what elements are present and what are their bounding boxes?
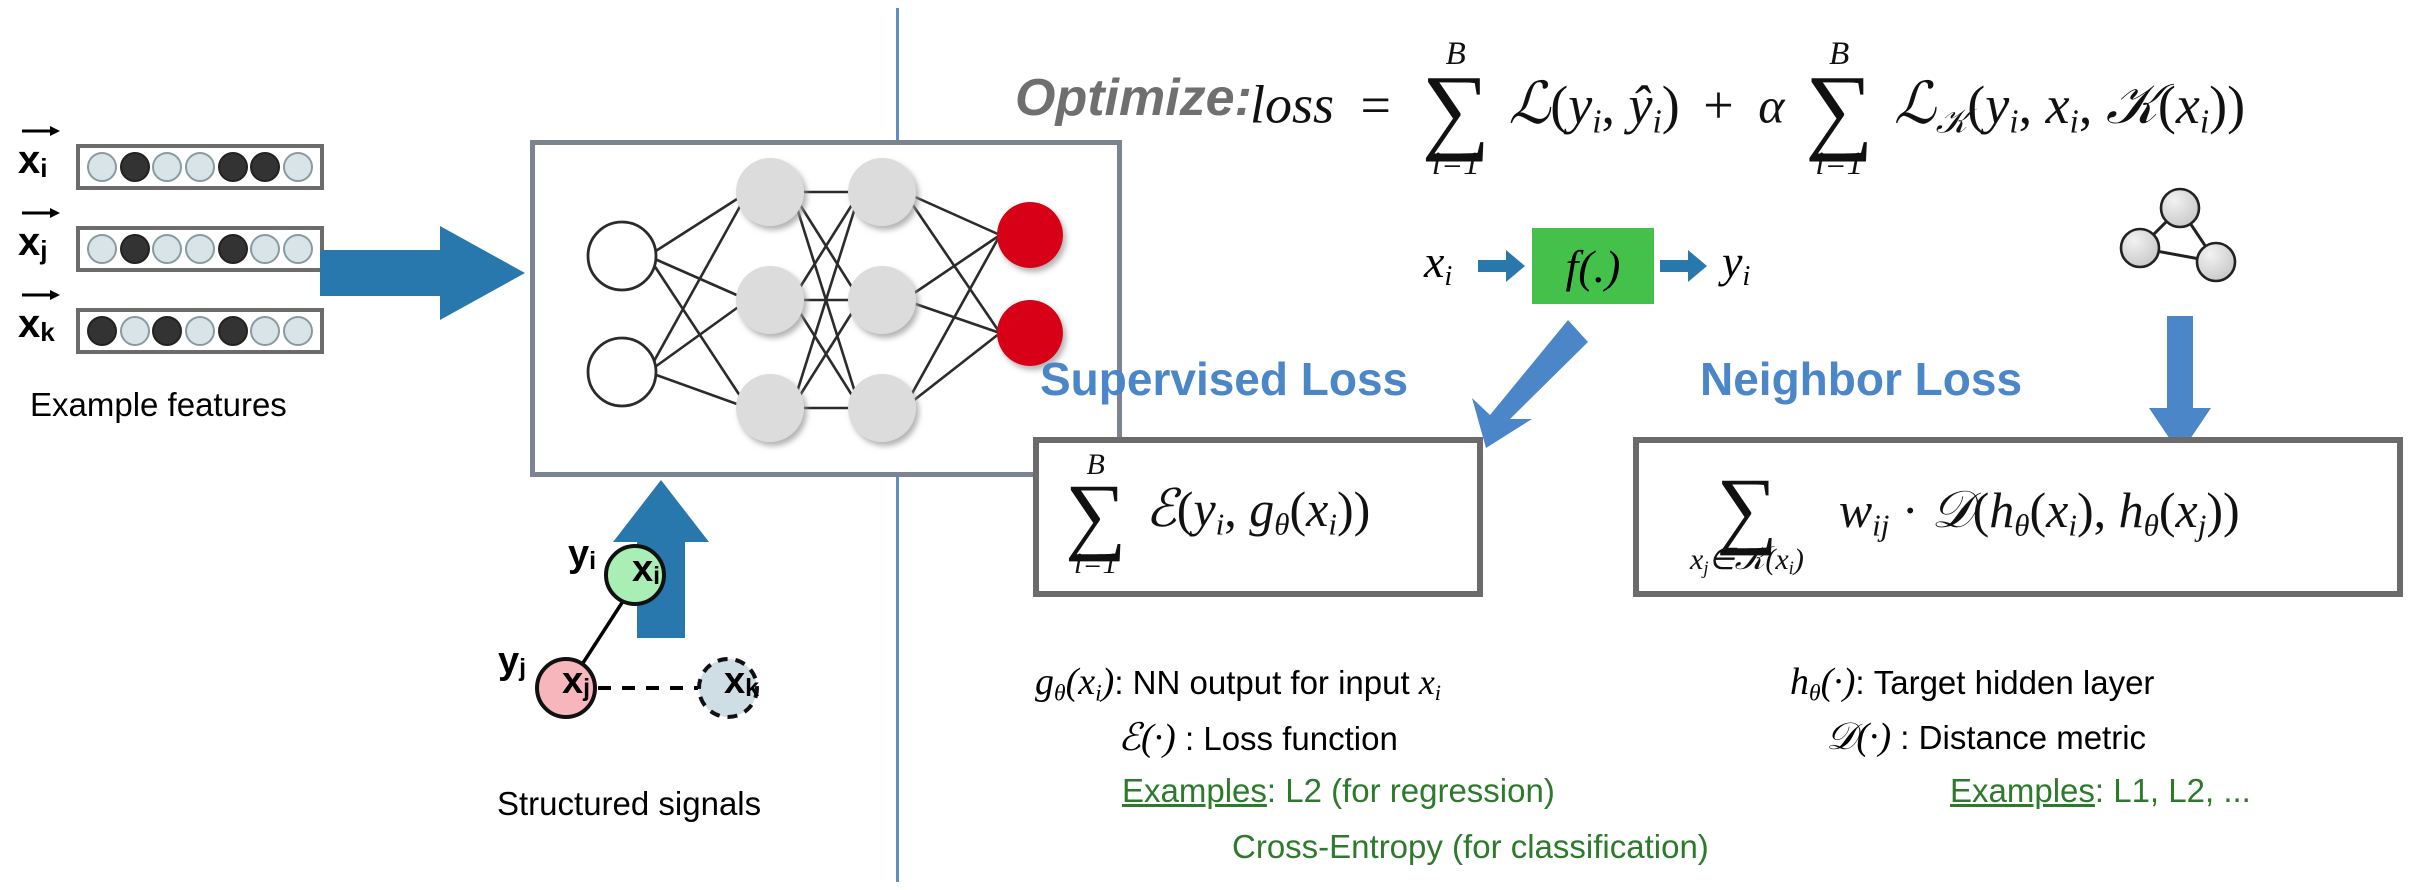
feature-cell [218, 234, 248, 264]
equals-sign: = [1349, 75, 1403, 135]
feature-cell [185, 152, 215, 182]
feature-cell [185, 234, 215, 264]
flow-output-label: yi [1722, 235, 1750, 293]
xi-sub: i [653, 562, 660, 590]
nbr-legend-text-2: Distance metric [1919, 719, 2146, 756]
plus-sign: + [1693, 75, 1743, 135]
vec-base-j: x [18, 220, 40, 264]
feature-cell [250, 234, 280, 264]
vector-arrow-icon [20, 206, 60, 218]
vec-sub-k: k [40, 317, 54, 347]
fbox-label: f(.) [1566, 240, 1621, 293]
yi-base: y [568, 533, 589, 575]
sum2-lower: i=1 [1815, 148, 1863, 181]
feature-vector-row-k [76, 308, 324, 354]
feature-cell [152, 316, 182, 346]
neighbor-legend-line-1: hθ(·): Target hidden layer [1790, 660, 2154, 708]
sup-legend-sep-1: : [1114, 664, 1132, 701]
yi-sub: i [589, 547, 596, 575]
neighbor-summation: ∑ xj∈𝒦(xi) [1690, 452, 1804, 579]
yj-sub: j [519, 654, 526, 682]
feature-cell [283, 234, 313, 264]
vec-base-k: x [18, 302, 40, 346]
x-vector-j-label: xj [18, 222, 47, 263]
sup-examples-text-1: : L2 (for regression) [1267, 772, 1555, 809]
nbr-legend-text-1: Target hidden layer [1874, 664, 2155, 701]
neighbor-term: ℒ𝒦(yi, xi, 𝒦(xi)) [1894, 75, 2245, 135]
supervised-term: ℒ(yi, ŷi) [1508, 75, 1693, 135]
nbr-legend-sep-1: : [1855, 664, 1873, 701]
example-features-caption: Example features [30, 386, 287, 424]
neighbor-loss-body: wij · 𝒟(hθ(xi), hθ(xj)) [1839, 482, 2240, 538]
flow-input-base: x [1424, 236, 1444, 287]
neighbor-examples-line-1: Examples: L1, L2, ... [1950, 772, 2251, 810]
feature-cell [120, 316, 150, 346]
supervised-loss-equation: B ∑ i=1 ℰ(yi, gθ(xi)) [1065, 450, 1370, 579]
feature-cell [120, 152, 150, 182]
nbr-legend-sep-2: : [1891, 719, 1919, 756]
supervised-branch-arrow-icon [1450, 320, 1590, 450]
optimize-label: Optimize: [1015, 68, 1252, 128]
flow-arrow-out-icon [1660, 248, 1708, 284]
flow-output-base: y [1722, 236, 1742, 287]
nbr-examples-label: Examples [1950, 772, 2095, 809]
x-vector-i-label: xi [18, 140, 47, 181]
flow-input-sub: i [1444, 261, 1452, 292]
structured-signals-caption: Structured signals [497, 785, 761, 823]
loss-lhs: loss [1250, 75, 1334, 135]
vec-base-i: x [18, 138, 40, 182]
summation-2: B ∑ i=1 [1805, 38, 1873, 181]
feature-cell [120, 234, 150, 264]
nbr-legend-symbol-1: hθ(·) [1790, 661, 1855, 703]
vec-sub-j: j [40, 235, 47, 265]
feature-vector-row-j [76, 226, 324, 272]
feature-cell [218, 316, 248, 346]
neighbor-legend-line-2: 𝒟(·) : Distance metric [1826, 715, 2146, 759]
sup-legend-sep-2: : [1176, 720, 1204, 757]
sup-examples-label: Examples [1122, 772, 1267, 809]
feature-vector-row-i [76, 144, 324, 190]
summation-1: B ∑ i=1 [1422, 38, 1490, 181]
main-loss-equation: loss = B ∑ i=1 ℒ(yi, ŷi) + α B ∑ i=1 ℒ𝒦(… [1250, 38, 2245, 181]
sup-legend-symbol-2: ℰ(·) [1118, 717, 1176, 759]
supervised-examples-line-2: Cross-Entropy (for classification) [1232, 828, 1709, 866]
sum1-lower: i=1 [1432, 148, 1480, 181]
feature-cell [87, 152, 117, 182]
graph-node-label-xj: xj [562, 660, 590, 703]
nbr-sum-lower: xj∈𝒦(xi) [1690, 543, 1804, 579]
graph-triad-icon [2112, 180, 2252, 300]
graph-node-outer-label-yi: yi [568, 533, 596, 576]
neural-network-diagram [530, 140, 1122, 477]
feature-cell [283, 152, 313, 182]
feature-cell [185, 316, 215, 346]
yj-base: y [498, 640, 519, 682]
sup-legend-symbol-1: gθ(xi) [1035, 661, 1114, 703]
sup-legend-text-1: NN output for input [1133, 664, 1419, 701]
feature-cell [87, 316, 117, 346]
nbr-legend-symbol-2: 𝒟(·) [1826, 716, 1891, 758]
xk-sub: k [745, 674, 759, 702]
feature-cell [218, 152, 248, 182]
xj-sub: j [583, 674, 590, 702]
neighbor-loss-equation: ∑ xj∈𝒦(xi) wij · 𝒟(hθ(xi), hθ(xj)) [1690, 452, 2240, 579]
vec-sub-i: i [40, 153, 47, 183]
feature-cell [152, 152, 182, 182]
input-to-network-arrow-icon [320, 218, 530, 328]
supervised-legend-line-1: gθ(xi): NN output for input xi [1035, 660, 1441, 708]
xi-base: x [632, 548, 653, 590]
neighbor-loss-title: Neighbor Loss [1700, 352, 2022, 406]
xk-base: x [724, 660, 745, 702]
feature-cell [250, 316, 280, 346]
xj-base: x [562, 660, 583, 702]
feature-cell [152, 234, 182, 264]
neighbor-branch-arrow-icon [2145, 316, 2215, 456]
supervised-examples-line-1: Examples: L2 (for regression) [1122, 772, 1555, 810]
x-vector-k-label: xk [18, 304, 55, 345]
feature-cell [250, 152, 280, 182]
flow-input-label: xi [1424, 235, 1452, 293]
supervised-summation: B ∑ i=1 [1065, 450, 1126, 579]
sup-legend-text-2: Loss function [1203, 720, 1397, 757]
supervised-legend-line-2: ℰ(·) : Loss function [1118, 715, 1398, 760]
supervised-loss-title: Supervised Loss [1040, 352, 1408, 406]
vector-arrow-icon [20, 288, 60, 300]
supervised-loss-body: ℰ(yi, gθ(xi)) [1145, 481, 1370, 537]
graph-node-label-xk: xk [724, 660, 759, 703]
flow-arrow-in-icon [1478, 248, 1526, 284]
graph-node-outer-label-yj: yj [498, 640, 526, 683]
sup-sum-lower: i=1 [1074, 549, 1118, 579]
flow-output-sub: i [1742, 261, 1750, 292]
feature-cell [87, 234, 117, 264]
nbr-examples-text-1: : L1, L2, ... [2095, 772, 2251, 809]
feature-cell [283, 316, 313, 346]
transform-function-box: f(.) [1532, 228, 1654, 304]
graph-node-label-xi: xi [632, 548, 660, 591]
vector-arrow-icon [20, 124, 60, 136]
alpha-symbol: α [1758, 78, 1784, 134]
